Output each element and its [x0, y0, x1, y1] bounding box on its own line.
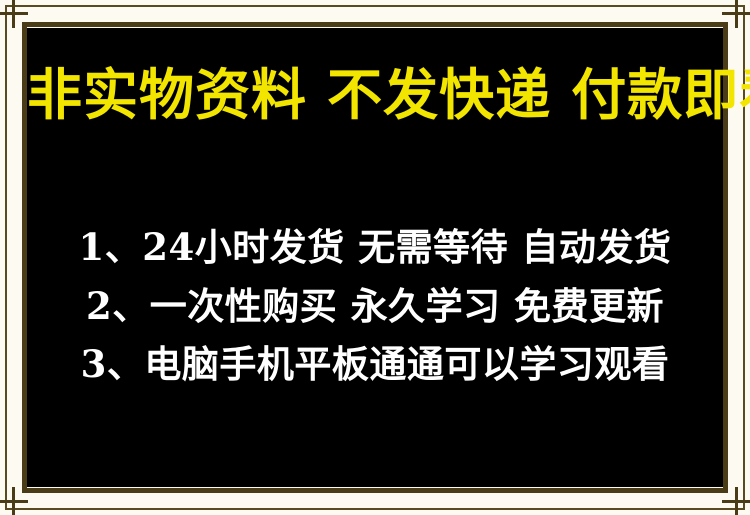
corner-tick-bottom-left-horizontal	[0, 500, 28, 503]
headline-text: 非实物资料 不发快递 付款即看	[27, 66, 723, 124]
corner-tick-bottom-right-horizontal	[722, 500, 750, 503]
list-item: 3、电脑手机平板通通可以学习观看	[81, 343, 670, 386]
list-item: 1、24小时发货 无需等待 自动发货	[79, 226, 672, 269]
black-content-panel: 非实物资料 不发快递 付款即看 1、24小时发货 无需等待 自动发货 2、一次性…	[27, 28, 723, 487]
corner-tick-bottom-right-vertical	[735, 487, 738, 515]
corner-tick-top-right-horizontal	[722, 12, 750, 15]
corner-tick-top-right-vertical	[735, 0, 738, 28]
corner-tick-top-left-vertical	[12, 0, 15, 28]
corner-tick-bottom-left-vertical	[12, 487, 15, 515]
feature-list: 1、24小时发货 无需等待 自动发货 2、一次性购买 永久学习 免费更新 3、电…	[27, 226, 723, 386]
promo-banner: 非实物资料 不发快递 付款即看 1、24小时发货 无需等待 自动发货 2、一次性…	[0, 0, 750, 515]
list-item: 2、一次性购买 永久学习 免费更新	[86, 285, 664, 328]
corner-tick-top-left-horizontal	[0, 12, 28, 15]
